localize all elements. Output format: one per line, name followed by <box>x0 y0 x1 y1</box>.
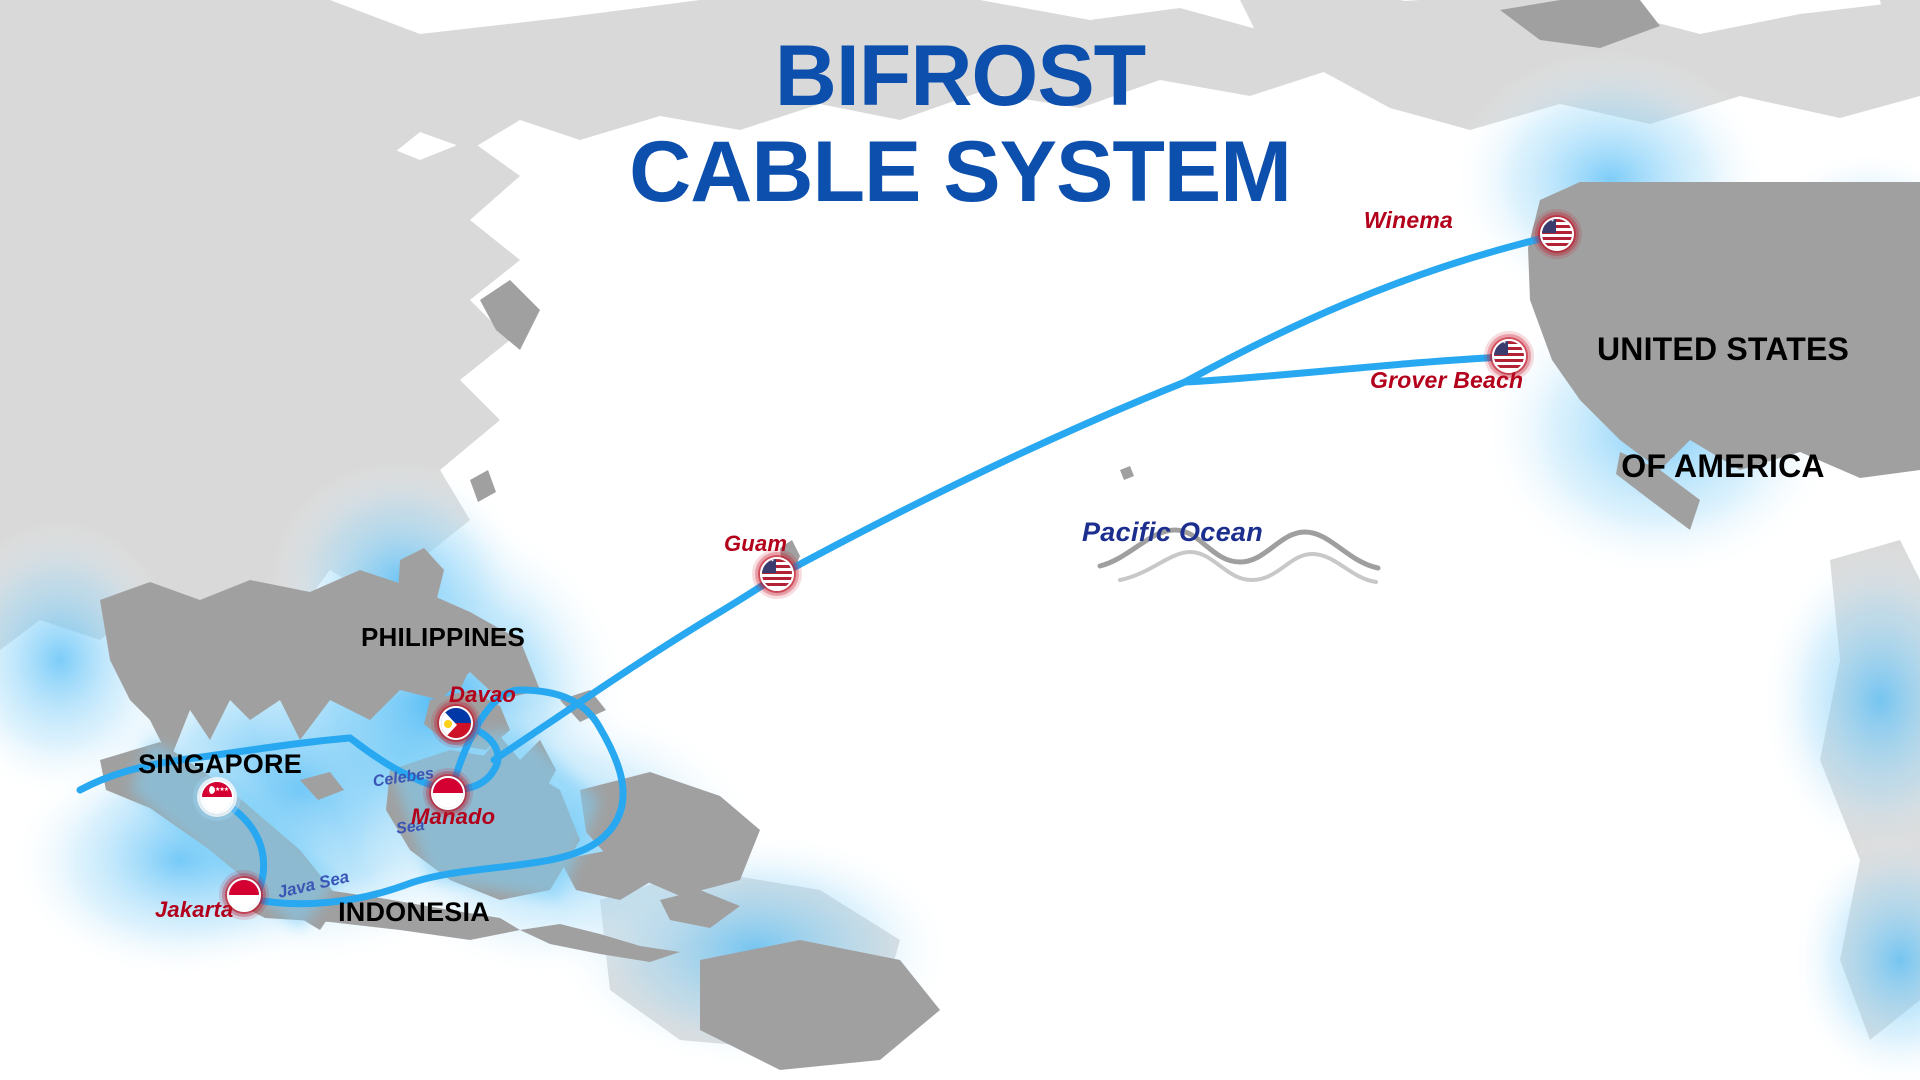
singapore-flag-icon: ★★★ <box>202 782 232 812</box>
map-canvas: BIFROST CABLE SYSTEM UNITED STATES OF AM… <box>0 0 1920 1080</box>
usa-flag-icon <box>762 559 792 589</box>
landing-point-marker-grover-beach[interactable] <box>1492 339 1526 373</box>
landing-point-marker-jakarta[interactable] <box>227 878 261 912</box>
landing-point-marker-singapore[interactable]: ★★★ <box>200 780 234 814</box>
indonesia-flag-icon <box>229 880 259 910</box>
philippines-flag-icon <box>441 708 471 738</box>
landing-point-marker-manado[interactable] <box>431 776 465 810</box>
landing-point-marker-winema[interactable] <box>1540 217 1574 251</box>
title-line-1: BIFROST <box>0 28 1920 124</box>
landing-point-marker-guam[interactable] <box>760 557 794 591</box>
indonesia-flag-icon <box>433 778 463 808</box>
landing-point-marker-davao[interactable] <box>439 706 473 740</box>
usa-flag-icon <box>1542 219 1572 249</box>
map-title: BIFROST CABLE SYSTEM <box>0 28 1920 221</box>
title-line-2: CABLE SYSTEM <box>0 124 1920 220</box>
usa-flag-icon <box>1494 341 1524 371</box>
